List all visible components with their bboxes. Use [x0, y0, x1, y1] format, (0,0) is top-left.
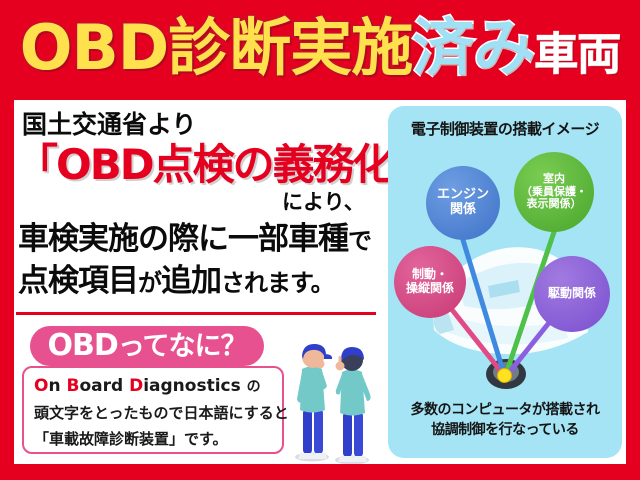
obd-explanation-block: OBDってなに？ On Board Diagnostics の 頭文字をとったも… — [20, 326, 288, 454]
node-drive-label: 駆動関係 — [548, 287, 596, 301]
expansion-iagnostics: iagnostics — [143, 376, 246, 396]
node-cabin[interactable]: 室内（乗員保護・表示関係） — [514, 152, 594, 232]
node-brake-line2: 操縦関係 — [406, 281, 454, 295]
inspection-line-1-main: 車検実施の際に一部車種 — [18, 221, 348, 257]
node-engine-line1: エンジン — [437, 187, 489, 202]
node-brake-label: 制動・操縦関係 — [406, 268, 454, 296]
node-cabin-line1: 室内 — [543, 172, 565, 185]
obligation-suffix: により、 — [282, 192, 365, 213]
diagram-footer-line1: 多数のコンピュータが搭載され — [411, 402, 600, 418]
ministry-line: 国土交通省より — [22, 112, 197, 137]
mechanics-illustration — [286, 314, 382, 464]
expansion-d: D — [129, 376, 143, 396]
obd-explain-line-2: 頭文字をとったもので日本語にすると — [34, 406, 289, 421]
node-brake-line1: 制動・ — [412, 267, 448, 281]
node-cabin-line2: （乗員保護・ — [521, 185, 587, 198]
expansion-b: B — [66, 376, 79, 396]
inspection-line-1-suffix: で — [348, 227, 371, 255]
node-engine-line2: 関係 — [450, 202, 476, 217]
obd-explanation-box: On Board Diagnostics の 頭文字をとったもので日本語にすると… — [22, 366, 284, 454]
obd-expansion-line: On Board Diagnostics の — [34, 378, 261, 395]
two-mechanics-icon — [286, 314, 382, 464]
diagram-footer-line2: 協調制御を行なっている — [431, 422, 579, 438]
expansion-oard: oard — [79, 376, 129, 396]
obd-question-acronym: OBD — [48, 328, 118, 363]
node-brake[interactable]: 制動・操縦関係 — [394, 246, 466, 318]
inspection-line-2-suffix: されます。 — [221, 269, 334, 297]
inspection-line-2-main: 点検項目 — [18, 263, 138, 299]
left-column: 国土交通省より 「OBD点検の義務化」 により、 車検実施の際に一部車種で 点検… — [14, 100, 382, 464]
node-drive[interactable]: 駆動関係 — [534, 256, 610, 332]
header-title-white: 車両 — [534, 29, 620, 80]
ecu-diagram-panel: 電子制御装置の搭載イメージ — [388, 106, 622, 458]
inspection-line-2-main2: 追加 — [161, 263, 221, 299]
expansion-n: n — [48, 376, 66, 396]
expansion-suffix: の — [247, 379, 261, 395]
node-engine[interactable]: エンジン関係 — [426, 166, 500, 240]
node-cabin-label: 室内（乗員保護・表示関係） — [521, 173, 587, 211]
obd-explain-line-3: 「車載故障診断装置」です。 — [34, 432, 228, 447]
obd-question-rest: ってなに？ — [118, 331, 247, 362]
inspection-line-2: 点検項目が追加されます。 — [18, 266, 334, 297]
inspection-line-1: 車検実施の際に一部車種で — [18, 224, 371, 255]
poster-root: OBD診断実施済み車両 国土交通省より 「OBD点検の義務化」 により、 車検実… — [0, 0, 640, 480]
header-title: OBD診断実施済み車両 — [20, 17, 620, 79]
header-title-yellow: OBD診断実施 — [20, 11, 412, 84]
node-cabin-line3: 表示関係） — [527, 197, 582, 210]
obligation-headline: 「OBD点検の義務化」 — [16, 144, 433, 186]
header-title-blue: 済み — [412, 11, 534, 84]
header-banner: OBD診断実施済み車両 — [0, 0, 640, 95]
diagram-footer: 多数のコンピュータが搭載され 協調制御を行なっている — [388, 400, 622, 441]
obd-question-text: OBDってなに？ — [48, 331, 247, 361]
content-card: 国土交通省より 「OBD点検の義務化」 により、 車検実施の際に一部車種で 点検… — [14, 100, 626, 464]
ecu-hub-dot — [497, 368, 512, 383]
node-engine-label: エンジン関係 — [437, 188, 489, 218]
inspection-line-2-mid: が — [138, 269, 161, 297]
expansion-o: O — [34, 376, 48, 396]
